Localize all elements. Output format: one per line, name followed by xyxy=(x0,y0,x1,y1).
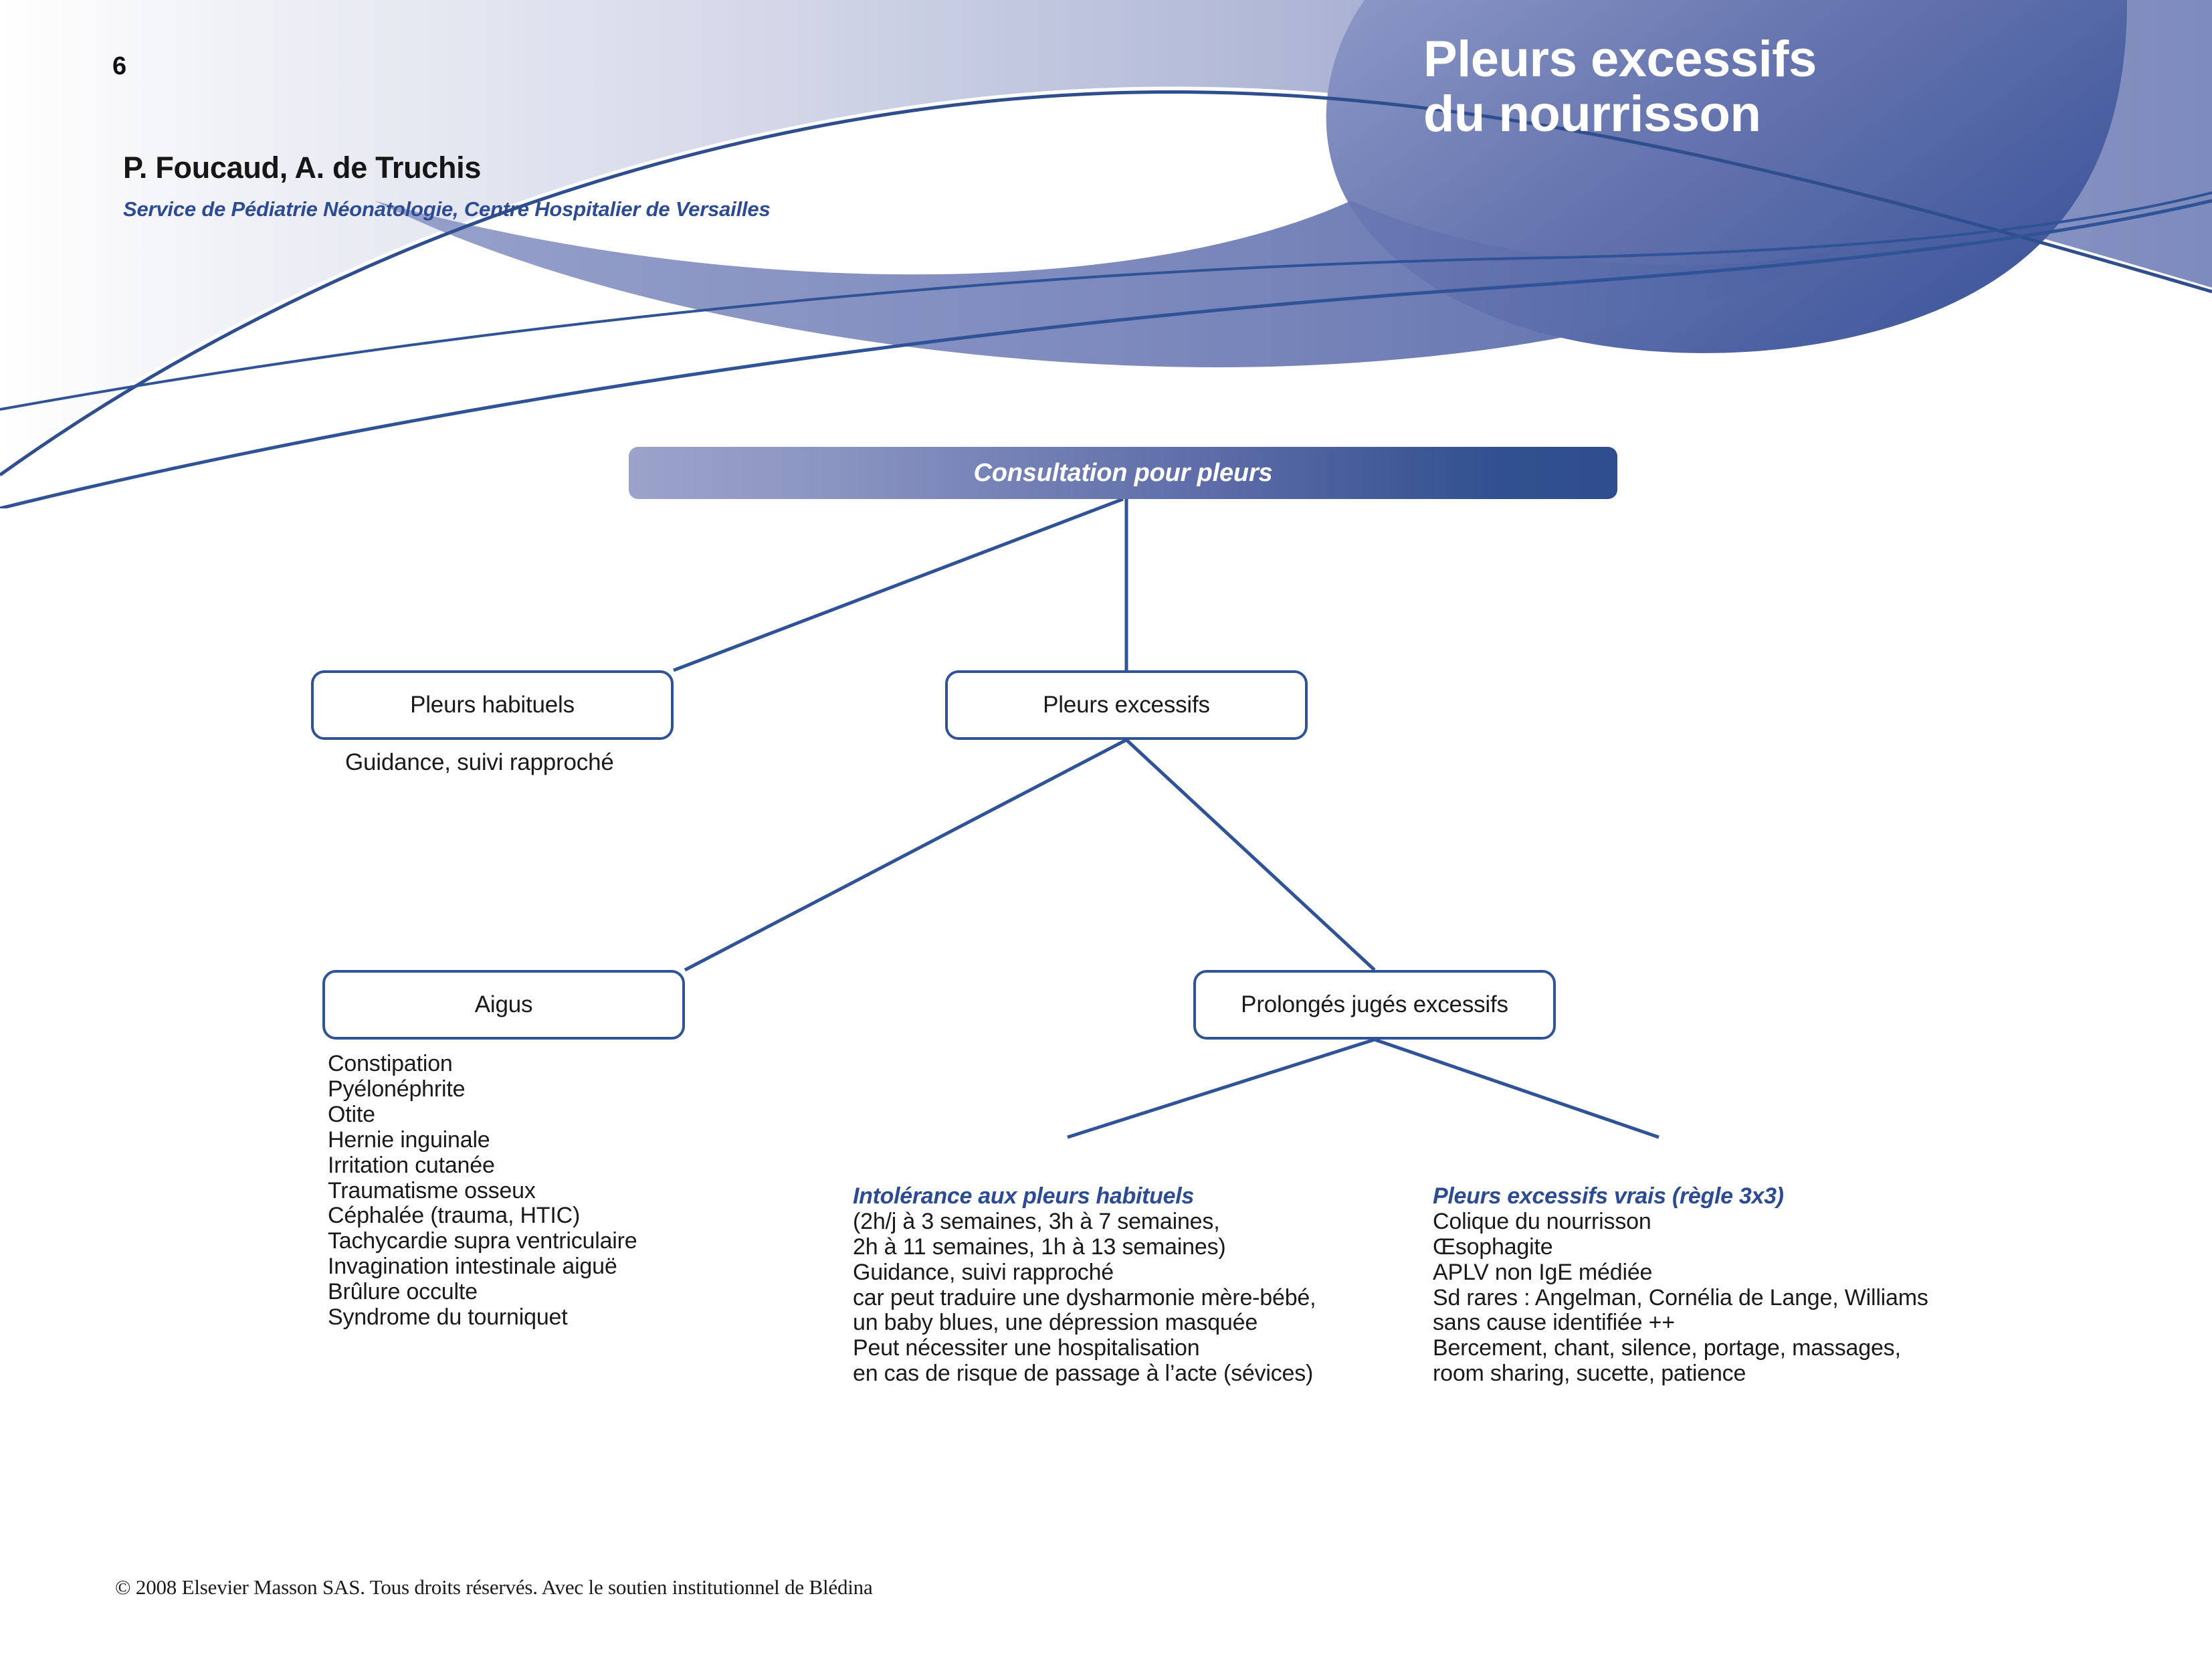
node-label: Prolongés jugés excessifs xyxy=(1241,991,1508,1018)
node-label: Pleurs excessifs xyxy=(1043,692,1210,718)
connector-root-to-habituels xyxy=(674,499,1123,670)
page-number: 6 xyxy=(112,52,126,81)
connector-excessifs-to-aigus xyxy=(685,740,1126,970)
connector-excessifs-to-prolonges xyxy=(1126,740,1375,970)
node-label: Pleurs habituels xyxy=(410,692,575,718)
footer-copyright: © 2008 Elsevier Masson SAS. Tous droits … xyxy=(115,1575,873,1599)
node-pleurs-habituels[interactable]: Pleurs habituels xyxy=(311,670,674,740)
list-aigus-causes: Constipation Pyélonéphrite Otite Hernie … xyxy=(328,1052,637,1331)
connector-prolonges-to-vrais xyxy=(1375,1040,1659,1137)
node-label: Consultation pour pleurs xyxy=(974,459,1273,488)
connector-prolonges-to-intolerance xyxy=(1068,1040,1375,1137)
slide-page: 6 Pleurs excessifs du nourrisson P. Fouc… xyxy=(0,0,2212,1659)
list-intolerance-body: (2h/j à 3 semaines, 3h à 7 semaines, 2h … xyxy=(853,1209,1316,1386)
node-label: Aigus xyxy=(475,991,533,1018)
node-aigus[interactable]: Aigus xyxy=(322,970,685,1040)
diagram-connectors xyxy=(0,0,2212,1659)
node-pleurs-excessifs[interactable]: Pleurs excessifs xyxy=(945,670,1308,740)
list-intolerance-heading: Intolérance aux pleurs habituels xyxy=(853,1184,1316,1209)
list-vrais-body: Colique du nourrisson Œsophagite APLV no… xyxy=(1433,1209,1928,1386)
page-title: Pleurs excessifs du nourrisson xyxy=(1423,32,2092,142)
node-prolonges-juges-excessifs[interactable]: Prolongés jugés excessifs xyxy=(1193,970,1556,1040)
authors: P. Foucaud, A. de Truchis xyxy=(123,151,481,185)
node-consultation-pour-pleurs[interactable]: Consultation pour pleurs xyxy=(629,447,1617,499)
list-intolerance: Intolérance aux pleurs habituels(2h/j à … xyxy=(853,1159,1316,1387)
header-arc-top xyxy=(0,92,2212,475)
header-blob-lower xyxy=(375,201,1846,367)
list-pleurs-excessifs-vrais: Pleurs excessifs vrais (règle 3x3)Coliqu… xyxy=(1433,1159,1928,1387)
affiliation: Service de Pédiatrie Néonatologie, Centr… xyxy=(123,197,771,221)
header-arc-sweep-2 xyxy=(0,193,2212,409)
list-vrais-heading: Pleurs excessifs vrais (règle 3x3) xyxy=(1433,1184,1928,1209)
caption-guidance-suivi: Guidance, suivi rapproché xyxy=(345,749,614,776)
